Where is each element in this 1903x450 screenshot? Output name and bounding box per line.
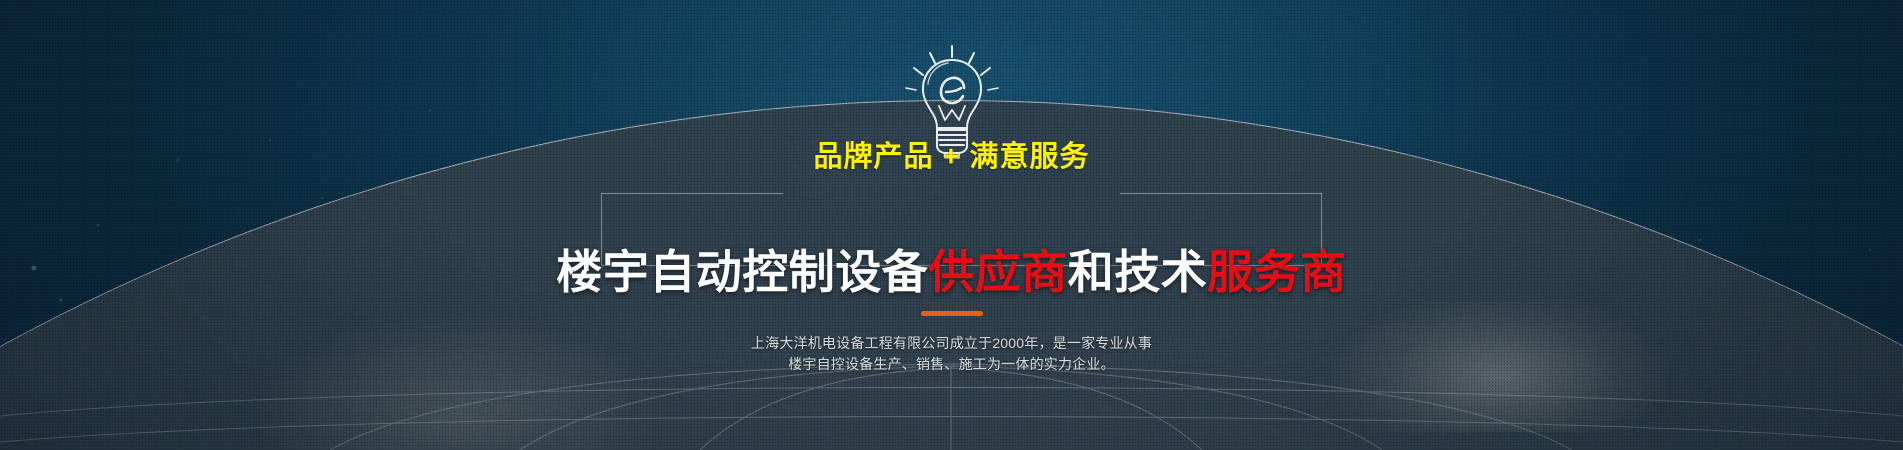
headline-part-4: 服务商 xyxy=(1207,246,1347,298)
headline-part-1: 楼宇自动控制设备 xyxy=(556,246,928,298)
headline: 楼宇自动控制设备供应商和技术服务商 xyxy=(0,249,1903,295)
frame-top-border-segment xyxy=(1120,193,1322,194)
description-line-1: 上海大洋机电设备工程有限公司成立于2000年，是一家专业从事 xyxy=(0,333,1903,354)
frame-top-border-segment xyxy=(601,193,783,194)
orange-divider xyxy=(921,311,983,316)
headline-part-3: 和技术 xyxy=(1068,246,1208,298)
banner-content: 品牌产品 + 满意服务 楼宇自动控制设备供应商和技术服务商 上海大洋机电设备工程… xyxy=(0,0,1903,450)
description: 上海大洋机电设备工程有限公司成立于2000年，是一家专业从事 楼宇自控设备生产、… xyxy=(0,333,1903,375)
hero-banner: 品牌产品 + 满意服务 楼宇自动控制设备供应商和技术服务商 上海大洋机电设备工程… xyxy=(0,0,1903,450)
lightbulb-e-icon xyxy=(892,40,1012,160)
description-line-2: 楼宇自控设备生产、销售、施工为一体的实力企业。 xyxy=(0,354,1903,375)
headline-part-2: 供应商 xyxy=(928,246,1068,298)
